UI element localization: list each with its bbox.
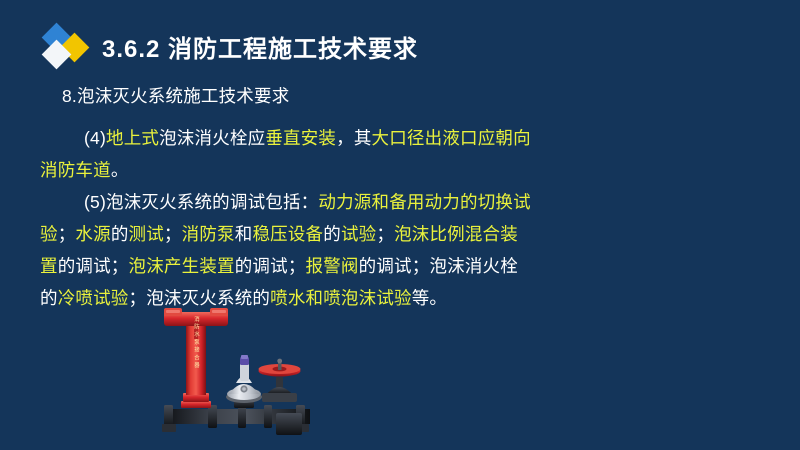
body-text: ； bbox=[164, 224, 182, 244]
highlighted-text: 大口径出液口应朝向 bbox=[372, 128, 531, 148]
body-text: ； bbox=[376, 224, 394, 244]
page-title: 3.6.2 消防工程施工技术要求 bbox=[102, 29, 418, 64]
body-text: (5)泡沫灭火系统的调试包括： bbox=[84, 192, 318, 212]
body-text: 和 bbox=[235, 224, 253, 244]
highlighted-text: 泡沫比例混合装 bbox=[394, 224, 518, 244]
slide-canvas: 3.6.2 消防工程施工技术要求 8.泡沫灭火系统施工技术要求 (4)地上式泡沫… bbox=[0, 0, 800, 450]
highlighted-text: 置 bbox=[40, 256, 58, 276]
highlighted-text: 测试 bbox=[129, 224, 164, 244]
highlighted-text: 冷喷试验 bbox=[58, 288, 129, 308]
body-text: 等。 bbox=[412, 288, 447, 308]
highlighted-text: 报警阀 bbox=[306, 256, 359, 276]
highlighted-text: 地上式 bbox=[106, 128, 159, 148]
paragraph-list: (4)地上式泡沫消火栓应垂直安装，其大口径出液口应朝向消防车道。(5)泡沫灭火系… bbox=[0, 122, 800, 314]
diamond-cluster-icon bbox=[42, 23, 94, 69]
highlighted-text: 垂直安装 bbox=[265, 128, 336, 148]
body-text: 的调试； bbox=[58, 256, 129, 276]
body-text: 的调试；泡沫消火栓 bbox=[359, 256, 518, 276]
body-text: 。 bbox=[111, 160, 129, 180]
equipment-illustration: 消防水泵接合器 bbox=[150, 305, 330, 450]
paragraph-item-5: (5)泡沫灭火系统的调试包括：动力源和备用动力的切换试验；水源的测试；消防泵和稳… bbox=[0, 186, 800, 314]
slide-header: 3.6.2 消防工程施工技术要求 bbox=[0, 22, 418, 70]
text-line: (4)地上式泡沫消火栓应垂直安装，其大口径出液口应朝向 bbox=[84, 122, 800, 154]
highlighted-text: 试验 bbox=[341, 224, 376, 244]
slide-body: 8.泡沫灭火系统施工技术要求 (4)地上式泡沫消火栓应垂直安装，其大口径出液口应… bbox=[0, 80, 800, 314]
body-text: 泡沫消火栓应 bbox=[159, 128, 265, 148]
body-text: ； bbox=[58, 224, 76, 244]
text-line: 验；水源的测试；消防泵和稳压设备的试验；泡沫比例混合装 bbox=[40, 218, 800, 250]
highlighted-text: 水源 bbox=[75, 224, 110, 244]
body-text: 的 bbox=[40, 288, 58, 308]
fire-pump-adapter-photo: 消防水泵接合器 bbox=[150, 305, 330, 450]
body-text: ，其 bbox=[336, 128, 371, 148]
text-line: 置的调试；泡沫产生装置的调试；报警阀的调试；泡沫消火栓 bbox=[40, 250, 800, 282]
body-text: (4) bbox=[84, 128, 106, 148]
paragraph-item-4: (4)地上式泡沫消火栓应垂直安装，其大口径出液口应朝向消防车道。 bbox=[0, 122, 800, 186]
body-text: 的调试； bbox=[235, 256, 306, 276]
highlighted-text: 消防车道 bbox=[40, 160, 111, 180]
highlighted-text: 稳压设备 bbox=[252, 224, 323, 244]
highlighted-text: 验 bbox=[40, 224, 58, 244]
svg-text:消防水泵接合器: 消防水泵接合器 bbox=[193, 315, 200, 370]
body-text: 的 bbox=[111, 224, 129, 244]
highlighted-text: 泡沫产生装置 bbox=[129, 256, 235, 276]
body-text: 的 bbox=[323, 224, 341, 244]
section-heading: 8.泡沫灭火系统施工技术要求 bbox=[62, 80, 800, 112]
text-line: 消防车道。 bbox=[40, 154, 800, 186]
highlighted-text: 消防泵 bbox=[182, 224, 235, 244]
text-line: (5)泡沫灭火系统的调试包括：动力源和备用动力的切换试 bbox=[84, 186, 800, 218]
highlighted-text: 动力源和备用动力的切换试 bbox=[318, 192, 530, 212]
